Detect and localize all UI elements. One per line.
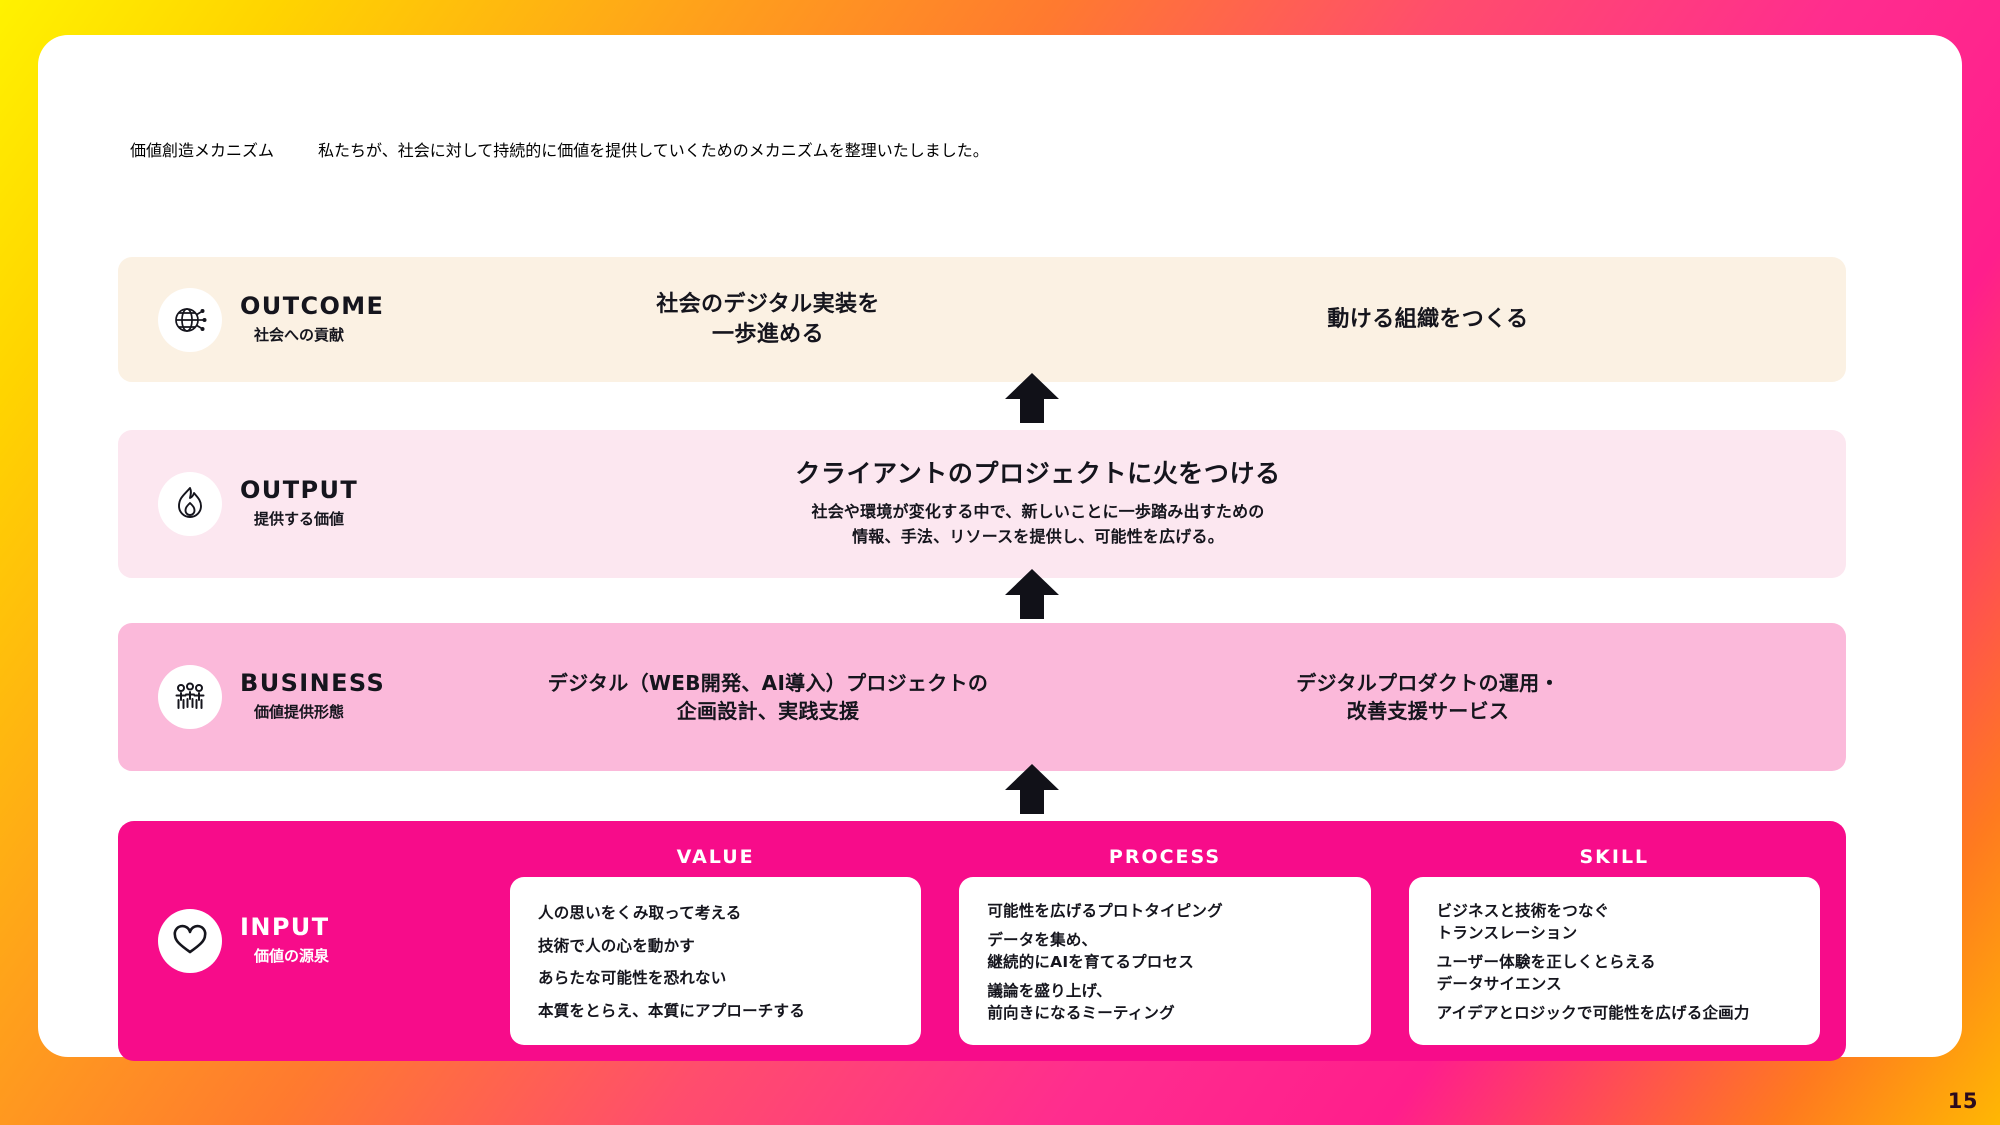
band-outcome-subtitle: 社会への貢献 bbox=[240, 324, 384, 347]
list-item: ユーザー体験を正しくとらえる データサイエンス bbox=[1437, 951, 1792, 995]
slide-header: 価値創造メカニズム 私たちが、社会に対して持続的に価値を提供していくためのメカニ… bbox=[130, 137, 1830, 161]
band-input-title: INPUT bbox=[240, 914, 329, 942]
input-column-value: VALUE 人の思いをくみ取って考える 技術で人の心を動かす あらたな可能性を恐… bbox=[510, 837, 921, 1045]
band-outcome-title: OUTCOME bbox=[240, 293, 384, 321]
flame-icon bbox=[158, 472, 222, 536]
input-columns: VALUE 人の思いをくみ取って考える 技術で人の心を動かす あらたな可能性を恐… bbox=[510, 837, 1820, 1045]
heart-icon bbox=[158, 909, 222, 973]
globe-network-icon bbox=[158, 288, 222, 352]
band-input-subtitle: 価値の源泉 bbox=[240, 945, 329, 968]
slide-card: 価値創造メカニズム 私たちが、社会に対して持続的に価値を提供していくためのメカニ… bbox=[38, 35, 1962, 1057]
up-arrow-icon-1 bbox=[1005, 373, 1059, 423]
band-business-subtitle: 価値提供形態 bbox=[240, 701, 385, 724]
band-outcome-label: OUTCOME 社会への貢献 bbox=[158, 257, 508, 382]
list-item: 本質をとらえ、本質にアプローチする bbox=[538, 1000, 893, 1022]
band-outcome: OUTCOME 社会への貢献 社会のデジタル実装を 一歩進める 動ける組織をつく… bbox=[118, 257, 1846, 382]
list-item: あらたな可能性を恐れない bbox=[538, 967, 893, 989]
business-column-1: デジタル（WEB開発、AI導入）プロジェクトの 企画設計、実践支援 bbox=[518, 669, 1148, 726]
page-subtitle: 私たちが、社会に対して持続的に価値を提供していくためのメカニズムを整理いたしまし… bbox=[318, 137, 989, 161]
list-item: 可能性を広げるプロトタイピング bbox=[987, 900, 1342, 922]
output-heading: クライアントのプロジェクトに火をつける bbox=[518, 458, 1558, 491]
band-output: OUTPUT 提供する価値 クライアントのプロジェクトに火をつける 社会や環境が… bbox=[118, 430, 1846, 578]
band-output-subtitle: 提供する価値 bbox=[240, 508, 358, 531]
list-item: ビジネスと技術をつなぐ トランスレーション bbox=[1437, 900, 1792, 944]
band-output-title: OUTPUT bbox=[240, 477, 358, 505]
people-group-icon bbox=[158, 665, 222, 729]
input-card-process: 可能性を広げるプロトタイピング データを集め、 継続的にAIを育てるプロセス 議… bbox=[959, 877, 1370, 1045]
input-column-process-header: PROCESS bbox=[959, 837, 1370, 877]
input-column-value-header: VALUE bbox=[510, 837, 921, 877]
output-description: 社会や環境が変化する中で、新しいことに一歩踏み出すための 情報、手法、リソースを… bbox=[518, 500, 1558, 550]
band-output-content: クライアントのプロジェクトに火をつける 社会や環境が変化する中で、新しいことに一… bbox=[518, 430, 1828, 578]
input-column-skill-header: SKILL bbox=[1409, 837, 1820, 877]
input-card-value: 人の思いをくみ取って考える 技術で人の心を動かす あらたな可能性を恐れない 本質… bbox=[510, 877, 921, 1045]
band-output-label: OUTPUT 提供する価値 bbox=[158, 430, 508, 578]
list-item: データを集め、 継続的にAIを育てるプロセス bbox=[987, 929, 1342, 973]
list-item: アイデアとロジックで可能性を広げる企画力 bbox=[1437, 1002, 1792, 1024]
band-business-content: デジタル（WEB開発、AI導入）プロジェクトの 企画設計、実践支援 デジタルプロ… bbox=[518, 623, 1828, 771]
band-input-label: INPUT 価値の源泉 bbox=[158, 821, 508, 1061]
page-number: 15 bbox=[1948, 1089, 1978, 1113]
business-column-2: デジタルプロダクトの運用・ 改善支援サービス bbox=[1148, 669, 1828, 726]
outcome-column-1: 社会のデジタル実装を 一歩進める bbox=[518, 290, 1138, 350]
up-arrow-icon-2 bbox=[1005, 569, 1059, 619]
input-column-skill: SKILL ビジネスと技術をつなぐ トランスレーション ユーザー体験を正しくとら… bbox=[1409, 837, 1820, 1045]
band-outcome-content: 社会のデジタル実装を 一歩進める 動ける組織をつくる bbox=[518, 257, 1828, 382]
band-input: INPUT 価値の源泉 VALUE 人の思いをくみ取って考える 技術で人の心を動… bbox=[118, 821, 1846, 1061]
list-item: 議論を盛り上げ、 前向きになるミーティング bbox=[987, 980, 1342, 1024]
outcome-column-2: 動ける組織をつくる bbox=[1138, 305, 1828, 335]
input-column-process: PROCESS 可能性を広げるプロトタイピング データを集め、 継続的にAIを育… bbox=[959, 837, 1370, 1045]
up-arrow-icon-3 bbox=[1005, 764, 1059, 814]
band-business: BUSINESS 価値提供形態 デジタル（WEB開発、AI導入）プロジェクトの … bbox=[118, 623, 1846, 771]
page-title: 価値創造メカニズム bbox=[130, 137, 274, 161]
input-card-skill: ビジネスと技術をつなぐ トランスレーション ユーザー体験を正しくとらえる データ… bbox=[1409, 877, 1820, 1045]
list-item: 技術で人の心を動かす bbox=[538, 935, 893, 957]
band-business-label: BUSINESS 価値提供形態 bbox=[158, 623, 508, 771]
band-business-title: BUSINESS bbox=[240, 670, 385, 698]
list-item: 人の思いをくみ取って考える bbox=[538, 902, 893, 924]
